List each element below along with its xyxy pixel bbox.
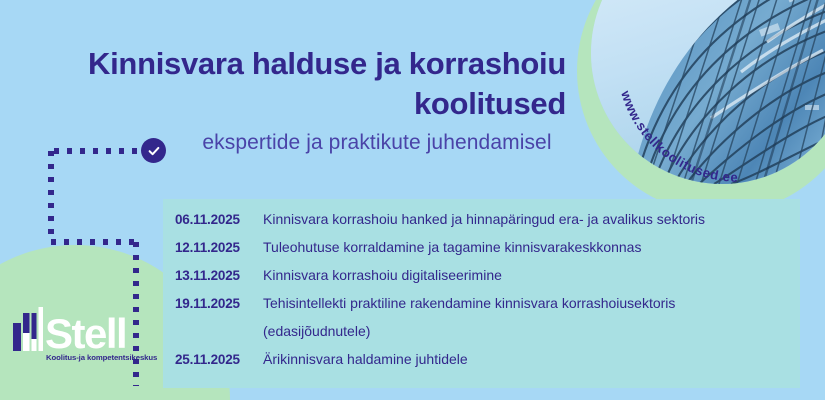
schedule-row: 06.11.2025Kinnisvara korrashoiu hanked j… — [175, 211, 800, 239]
check-circle-icon — [141, 138, 166, 163]
schedule-row-date: 06.11.2025 — [175, 212, 255, 227]
schedule-row: 25.11.2025Ärikinnisvara haldamine juhtid… — [175, 351, 800, 379]
schedule-row-title: Tuleohutuse korraldamine ja tagamine kin… — [255, 239, 641, 255]
schedule-row-date: 19.11.2025 — [175, 296, 255, 311]
schedule-row-title: (edasijõudnutele) — [255, 323, 370, 339]
schedule-row: 19.11.2025Tehisintellekti praktiline rak… — [175, 295, 800, 323]
page-subtitle: ekspertide ja praktikute juhendamisel — [186, 131, 568, 155]
page-title: Kinnisvara halduse ja korrashoiu koolitu… — [60, 44, 566, 123]
schedule-row-date: 13.11.2025 — [175, 268, 255, 283]
title-line-2: koolitused — [60, 84, 566, 124]
schedule-row-date: 25.11.2025 — [175, 352, 255, 367]
schedule-row: 13.11.2025Kinnisvara korrashoiu digitali… — [175, 267, 800, 295]
poster-canvas: www.stellkoolitused.ee Kinnisvara haldus… — [0, 0, 825, 400]
schedule-row-title: Tehisintellekti praktiline rakendamine k… — [255, 295, 675, 311]
stell-logo: Stell Koolitus-ja kompetentsikeskus — [12, 302, 160, 364]
schedule-row-title: Ärikinnisvara haldamine juhtidele — [255, 351, 468, 367]
schedule-row-title: Kinnisvara korrashoiu digitaliseerimine — [255, 267, 502, 283]
schedule-row-title: Kinnisvara korrashoiu hanked ja hinnapär… — [255, 211, 705, 227]
schedule-list: 06.11.2025Kinnisvara korrashoiu hanked j… — [163, 199, 800, 379]
stell-tagline: Koolitus-ja kompetentsikeskus — [46, 353, 157, 362]
schedule-panel: 06.11.2025Kinnisvara korrashoiu hanked j… — [163, 199, 800, 388]
schedule-row-date: 12.11.2025 — [175, 240, 255, 255]
schedule-row: 19.11.2025(edasijõudnutele) — [175, 323, 800, 351]
title-line-1: Kinnisvara halduse ja korrashoiu — [60, 44, 566, 84]
stell-wordmark: Stell — [45, 310, 126, 357]
schedule-row: 12.11.2025Tuleohutuse korraldamine ja ta… — [175, 239, 800, 267]
